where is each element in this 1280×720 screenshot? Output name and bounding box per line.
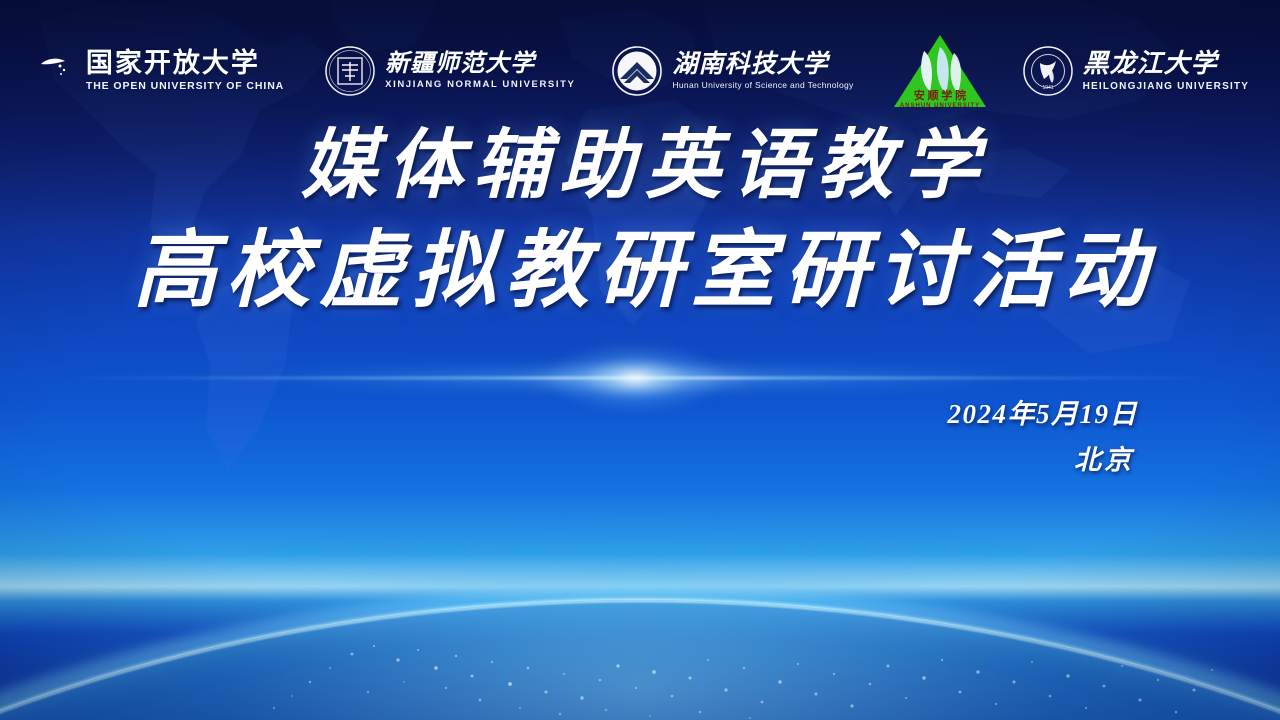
svg-text:ANSHUN UNIVERSITY: ANSHUN UNIVERSITY [899, 103, 979, 109]
logo-text-group: 新疆师范大学 XINJIANG NORMAL UNIVERSITY [385, 52, 575, 91]
logo-name-en: HEILONGJIANG UNIVERSITY [1083, 81, 1250, 92]
logo-name-en: Hunan University of Science and Technolo… [672, 81, 853, 90]
logo-open-university-of-china: 国家开放大学 THE OPEN UNIVERSITY OF CHINA [31, 34, 284, 108]
logo-xinjiang-normal-university: 新疆师范大学 XINJIANG NORMAL UNIVERSITY [324, 34, 575, 108]
hunan-mountain-seal-icon [611, 45, 663, 97]
svg-text:安 顺 学 院: 安 顺 学 院 [913, 88, 965, 102]
logo-anshun-university: 安 顺 学 院 ANSHUN UNIVERSITY [892, 34, 988, 108]
event-meta-block: 2024年5月19日 北京 [948, 398, 1139, 477]
heilongjiang-seal-icon: 1941 [1022, 45, 1074, 97]
logo-hunan-university-science-technology: 湖南科技大学 Hunan University of Science and T… [611, 34, 853, 108]
svg-text:1941: 1941 [1042, 85, 1053, 91]
logo-text-group: 国家开放大学 THE OPEN UNIVERSITY OF CHINA [86, 49, 284, 93]
logo-heilongjiang-university: 1941 黑龙江大学 HEILONGJIANG UNIVERSITY [1022, 34, 1250, 108]
event-place: 北京 [948, 444, 1139, 476]
logo-text-group: 黑龙江大学 HEILONGJIANG UNIVERSITY [1083, 50, 1250, 91]
logo-text-group: 湖南科技大学 Hunan University of Science and T… [672, 52, 853, 91]
partner-logo-row: 国家开放大学 THE OPEN UNIVERSITY OF CHINA 新疆师范… [0, 30, 1280, 112]
logo-name-cn: 黑龙江大学 [1083, 50, 1250, 77]
logo-name-cn: 湖南科技大学 [672, 52, 853, 78]
logo-name-cn: 国家开放大学 [86, 49, 284, 77]
event-date: 2024年5月19日 [948, 398, 1139, 430]
xinjiang-seal-icon [324, 45, 376, 97]
presentation-slide: 国家开放大学 THE OPEN UNIVERSITY OF CHINA 新疆师范… [0, 0, 1280, 720]
slide-title-line-1: 媒体辅助英语教学 [0, 128, 1280, 204]
crescent-c-icon [31, 48, 77, 94]
logo-name-en: XINJIANG NORMAL UNIVERSITY [385, 80, 575, 90]
slide-title-line-2: 高校虚拟教研室研讨活动 [0, 230, 1280, 314]
logo-name-en: THE OPEN UNIVERSITY OF CHINA [86, 81, 284, 93]
anshun-green-triangle-icon: 安 顺 学 院 ANSHUN UNIVERSITY [892, 33, 988, 109]
slide-title-block: 媒体辅助英语教学 高校虚拟教研室研讨活动 [0, 128, 1280, 314]
logo-name-cn: 新疆师范大学 [385, 52, 575, 77]
